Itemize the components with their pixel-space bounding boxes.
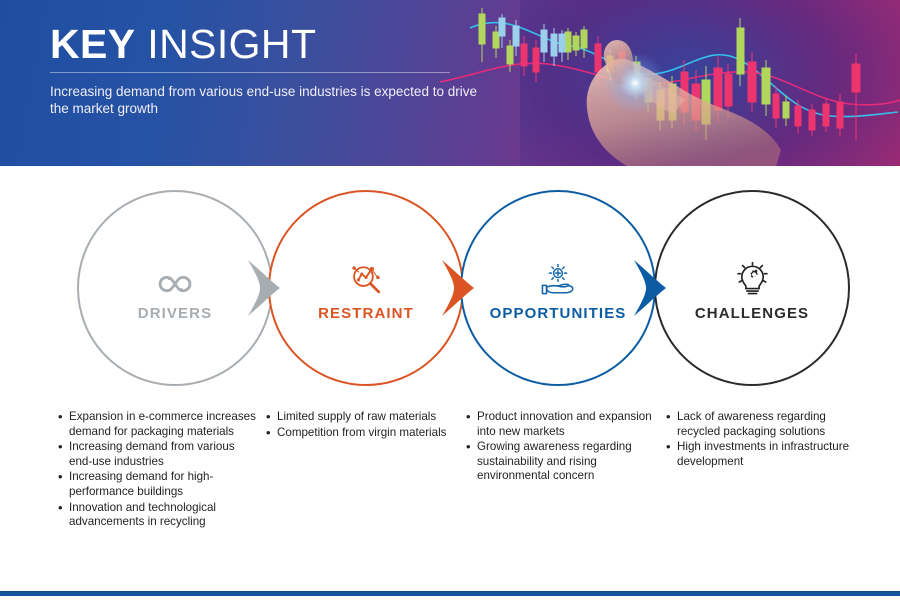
bullet-columns: • Expansion in e-commerce increases dema… <box>0 410 900 570</box>
bullet-column-restraint: • Limited supply of raw materials • Comp… <box>266 410 456 441</box>
bullet-marker: • <box>666 440 677 469</box>
bullet-marker: • <box>466 440 477 484</box>
list-item: • Expansion in e-commerce increases dema… <box>58 410 258 439</box>
list-item: • High investments in infrastructure dev… <box>666 440 866 469</box>
chevron-right-icon <box>246 260 282 316</box>
list-item-text: Increasing demand from various end-use i… <box>69 440 258 469</box>
stage-label-challenges: CHALLENGES <box>695 305 809 322</box>
list-item-text: Increasing demand for high-performance b… <box>69 470 258 499</box>
stage-circle-restraint[interactable]: RESTRAINT <box>268 190 464 386</box>
bullet-marker: • <box>58 440 69 469</box>
stage-label-restraint: RESTRAINT <box>318 305 414 322</box>
bullet-marker: • <box>58 410 69 439</box>
stage-circle-challenges[interactable]: CHALLENGES <box>654 190 850 386</box>
list-item: • Increasing demand for high-performance… <box>58 470 258 499</box>
bullet-marker: • <box>58 501 69 530</box>
page-title-bold: KEY <box>50 21 136 67</box>
stage-circle-opportunities[interactable]: OPPORTUNITIES <box>460 190 656 386</box>
list-item-text: Expansion in e-commerce increases demand… <box>69 410 258 439</box>
recycle-loop-icon <box>154 255 196 297</box>
list-item-text: High investments in infrastructure devel… <box>677 440 866 469</box>
bullet-column-challenges: • Lack of awareness regarding recycled p… <box>666 410 866 470</box>
list-item-text: Growing awareness regarding sustainabili… <box>477 440 656 484</box>
title-divider <box>50 72 450 73</box>
chevron-right-icon <box>632 260 668 316</box>
chevron-right-icon <box>440 260 476 316</box>
bullet-column-drivers: • Expansion in e-commerce increases dema… <box>58 410 258 531</box>
list-item-text: Limited supply of raw materials <box>277 410 456 425</box>
list-item: • Competition from virgin materials <box>266 426 456 441</box>
footer-divider <box>0 591 900 596</box>
hand-holding-idea-icon <box>537 255 579 297</box>
list-item: • Increasing demand from various end-use… <box>58 440 258 469</box>
list-item: • Lack of awareness regarding recycled p… <box>666 410 866 439</box>
stage-label-drivers: DRIVERS <box>138 305 212 322</box>
stage-diagram: DRIVERS <box>0 166 900 406</box>
lightbulb-gear-icon <box>731 255 773 297</box>
bullet-column-opportunities: • Product innovation and expansion into … <box>466 410 656 485</box>
page-header: KEY INSIGHT Increasing demand from vario… <box>0 0 900 166</box>
bullet-marker: • <box>466 410 477 439</box>
magnifier-chart-icon <box>345 255 387 297</box>
list-item: • Limited supply of raw materials <box>266 410 456 425</box>
page-title-light: INSIGHT <box>136 21 317 67</box>
list-item-text: Lack of awareness regarding recycled pac… <box>677 410 866 439</box>
list-item: • Product innovation and expansion into … <box>466 410 656 439</box>
page-title: KEY INSIGHT <box>50 22 900 66</box>
list-item-text: Competition from virgin materials <box>277 426 456 441</box>
bullet-marker: • <box>666 410 677 439</box>
list-item: • Innovation and technological advanceme… <box>58 501 258 530</box>
page-subtitle: Increasing demand from various end-use i… <box>50 83 480 117</box>
bullet-marker: • <box>266 426 277 441</box>
list-item-text: Innovation and technological advancement… <box>69 501 258 530</box>
bullet-marker: • <box>58 470 69 499</box>
stage-label-opportunities: OPPORTUNITIES <box>490 305 627 322</box>
bullet-marker: • <box>266 410 277 425</box>
stage-circle-drivers[interactable]: DRIVERS <box>77 190 273 386</box>
list-item: • Growing awareness regarding sustainabi… <box>466 440 656 484</box>
list-item-text: Product innovation and expansion into ne… <box>477 410 656 439</box>
